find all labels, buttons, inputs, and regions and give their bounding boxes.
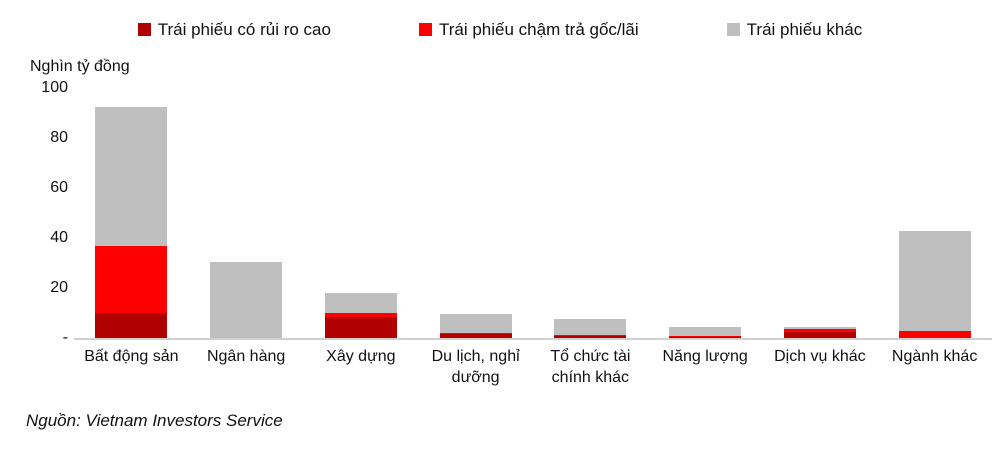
bar-segment — [95, 107, 167, 246]
bar-stack — [554, 319, 626, 338]
y-axis-ticks: -20406080100 — [22, 0, 68, 454]
y-tick-label: 40 — [22, 229, 68, 247]
x-axis-category-label: Tổ chức tài chính khác — [529, 346, 652, 388]
bar-stack — [669, 327, 741, 338]
y-tick-label: 60 — [22, 179, 68, 197]
bar-segment — [554, 319, 626, 335]
bar-stack — [210, 262, 282, 338]
bar-segment — [899, 231, 971, 331]
x-axis-category-label: Xây dựng — [300, 346, 423, 367]
bar-segment — [95, 246, 167, 314]
bar-stack — [899, 231, 971, 339]
y-tick-label: - — [22, 329, 68, 347]
bar-segment — [325, 293, 397, 313]
x-axis-category-label: Năng lượng — [644, 346, 767, 367]
bar-stack — [95, 107, 167, 338]
plot-area: -20406080100 Bất động sảnNgân hàngXây dự… — [0, 0, 1000, 454]
x-axis-category-label: Du lịch, nghỉ dưỡng — [414, 346, 537, 388]
bar-segment — [669, 337, 741, 338]
bar-segment — [784, 332, 856, 338]
bar-stack — [784, 327, 856, 338]
bar-segment — [669, 327, 741, 336]
bar-segment — [440, 314, 512, 333]
bar-segment — [95, 313, 167, 338]
bar-segment — [899, 331, 971, 339]
y-tick-label: 20 — [22, 279, 68, 297]
bar-stack — [440, 314, 512, 338]
bar-stack — [325, 293, 397, 338]
bar-segment — [210, 262, 282, 338]
y-tick-label: 100 — [22, 79, 68, 97]
x-axis-labels: Bất động sảnNgân hàngXây dựngDu lịch, ng… — [74, 346, 992, 400]
y-tick-label: 80 — [22, 129, 68, 147]
bar-segment — [325, 317, 397, 338]
x-axis-category-label: Ngân hàng — [185, 346, 308, 367]
x-axis-category-label: Bất động sản — [70, 346, 193, 367]
x-axis-category-label: Dịch vụ khác — [759, 346, 882, 367]
x-axis-category-label: Ngành khác — [873, 346, 996, 367]
source-note: Nguồn: Vietnam Investors Service — [26, 411, 283, 431]
chart-page: Trái phiếu có rủi ro cao Trái phiếu chậm… — [0, 0, 1000, 454]
bar-segment — [554, 336, 626, 338]
bar-segment — [440, 334, 512, 338]
